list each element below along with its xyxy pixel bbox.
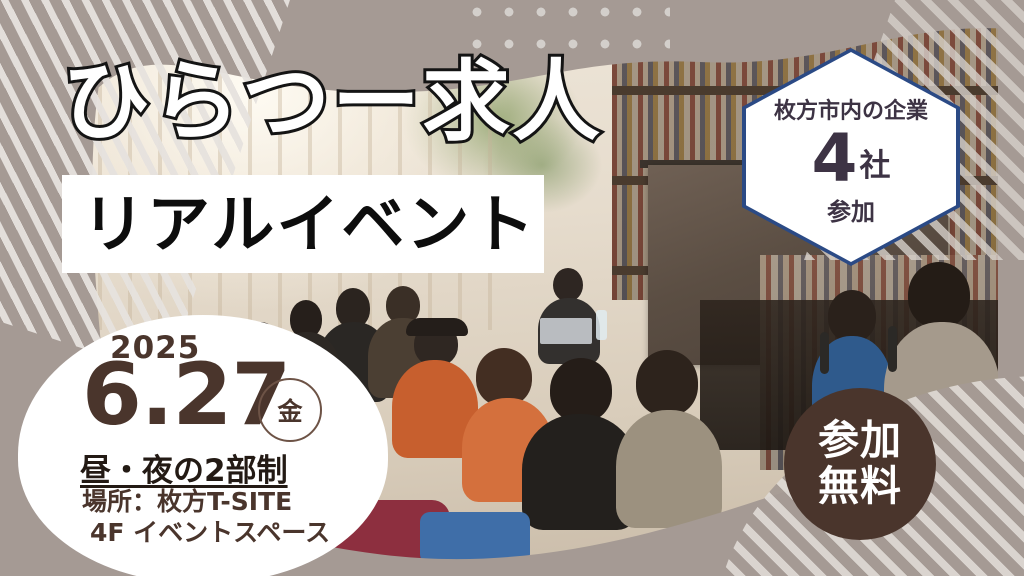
speaker-head-left <box>828 290 876 342</box>
audience-body <box>616 410 722 528</box>
free-badge-line-1: 参加 <box>818 418 902 464</box>
event-poster: ひらつー求人 リアルイベント 枚方市内の企業 4 社 参加 2025 6.27 … <box>0 0 1024 576</box>
presenter-head <box>553 268 583 302</box>
day-of-week-badge: 金 <box>258 378 322 442</box>
free-badge-line-2: 無料 <box>818 464 902 510</box>
free-participation-badge: 参加 無料 <box>784 388 936 540</box>
company-count-badge: 枚方市内の企業 4 社 参加 <box>742 48 960 266</box>
event-date: 6.27 <box>82 352 290 438</box>
audience-head <box>550 358 612 422</box>
audience-head <box>636 350 698 416</box>
venue-line-2: 4F イベントスペース <box>90 513 330 549</box>
denim <box>420 512 530 564</box>
microphone <box>888 326 897 372</box>
audience-hat <box>406 318 468 336</box>
company-badge-participation: 参加 <box>827 192 875 227</box>
speaker-head-right <box>908 262 970 328</box>
company-count-unit: 社 <box>859 140 890 185</box>
laptop <box>540 318 592 344</box>
company-count-number: 4 <box>812 127 858 190</box>
hexagon-content: 枚方市内の企業 4 社 参加 <box>742 48 960 266</box>
company-count-row: 4 社 <box>812 127 891 190</box>
water-bottle <box>596 310 607 340</box>
microphone <box>820 332 829 374</box>
poster-title-sub: リアルイベント <box>82 186 536 265</box>
poster-title-main: ひらつー求人 <box>62 58 602 146</box>
